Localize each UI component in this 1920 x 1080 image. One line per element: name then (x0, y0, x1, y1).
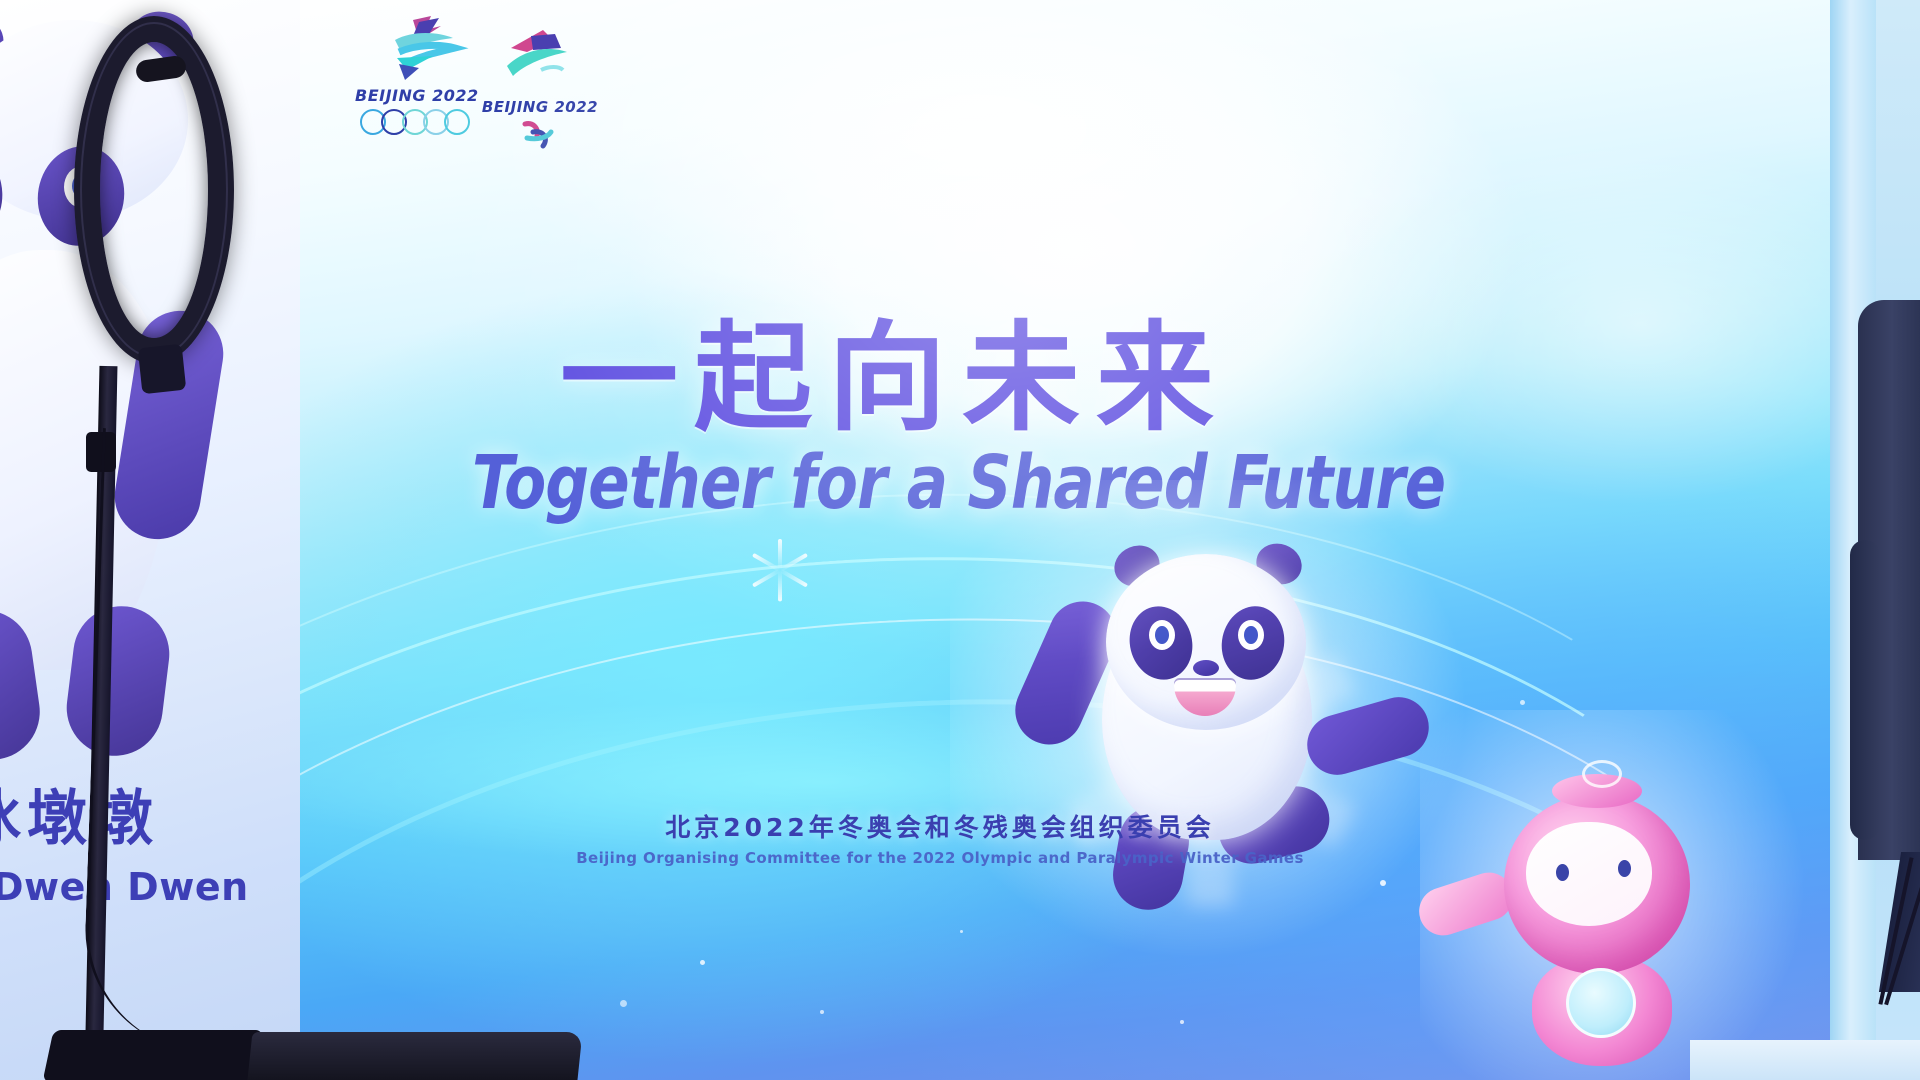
shuey-eye-left (1556, 864, 1569, 881)
ring-light[interactable] (74, 16, 234, 364)
screenshot-stage: BEIJING 2022 BEIJING 2022 (0, 0, 1920, 1080)
olympic-rings-icon (355, 109, 475, 135)
flying-emblem-icon (481, 26, 599, 98)
panda-nose (1193, 660, 1219, 676)
paralympic-wordmark: BEIJING 2022 (481, 98, 599, 116)
shuey-face (1526, 822, 1652, 926)
slogan-chinese: 一起向未来 (560, 282, 1320, 453)
organisation-credit: 北京2022年冬奥会和冬残奥会组织委员会 Beijing Organising … (560, 808, 1320, 867)
olympic-wordmark: BEIJING 2022 (355, 86, 475, 105)
person-arm (1850, 540, 1880, 840)
power-cable (81, 428, 226, 1052)
winter-dream-emblem-icon (355, 14, 475, 86)
shuey-emblem-icon (1566, 968, 1636, 1038)
agitos-icon (481, 118, 599, 148)
organisation-english: Beijing Organising Committee for the 202… (560, 849, 1320, 867)
organisation-chinese: 北京2022年冬奥会和冬残奥会组织委员会 (560, 808, 1320, 844)
beijing-2022-paralympic-emblem: BEIJING 2022 (481, 26, 599, 148)
panda-iris-left (1155, 626, 1169, 644)
shuey-rhon-rhon-mascot (1470, 760, 1770, 1080)
ring-light-mount[interactable] (138, 344, 187, 394)
person-silhouette (1850, 300, 1920, 1000)
panda-iris-right (1244, 626, 1258, 644)
shuey-eye-right (1618, 860, 1631, 877)
shuey-antenna-icon (1582, 760, 1622, 788)
foreground-object (247, 1032, 582, 1080)
foreground-surface (1690, 1040, 1920, 1080)
emblem-group: BEIJING 2022 BEIJING 2022 (355, 14, 605, 164)
beijing-2022-olympic-emblem: BEIJING 2022 (355, 14, 475, 135)
tripod-base (42, 1030, 263, 1080)
